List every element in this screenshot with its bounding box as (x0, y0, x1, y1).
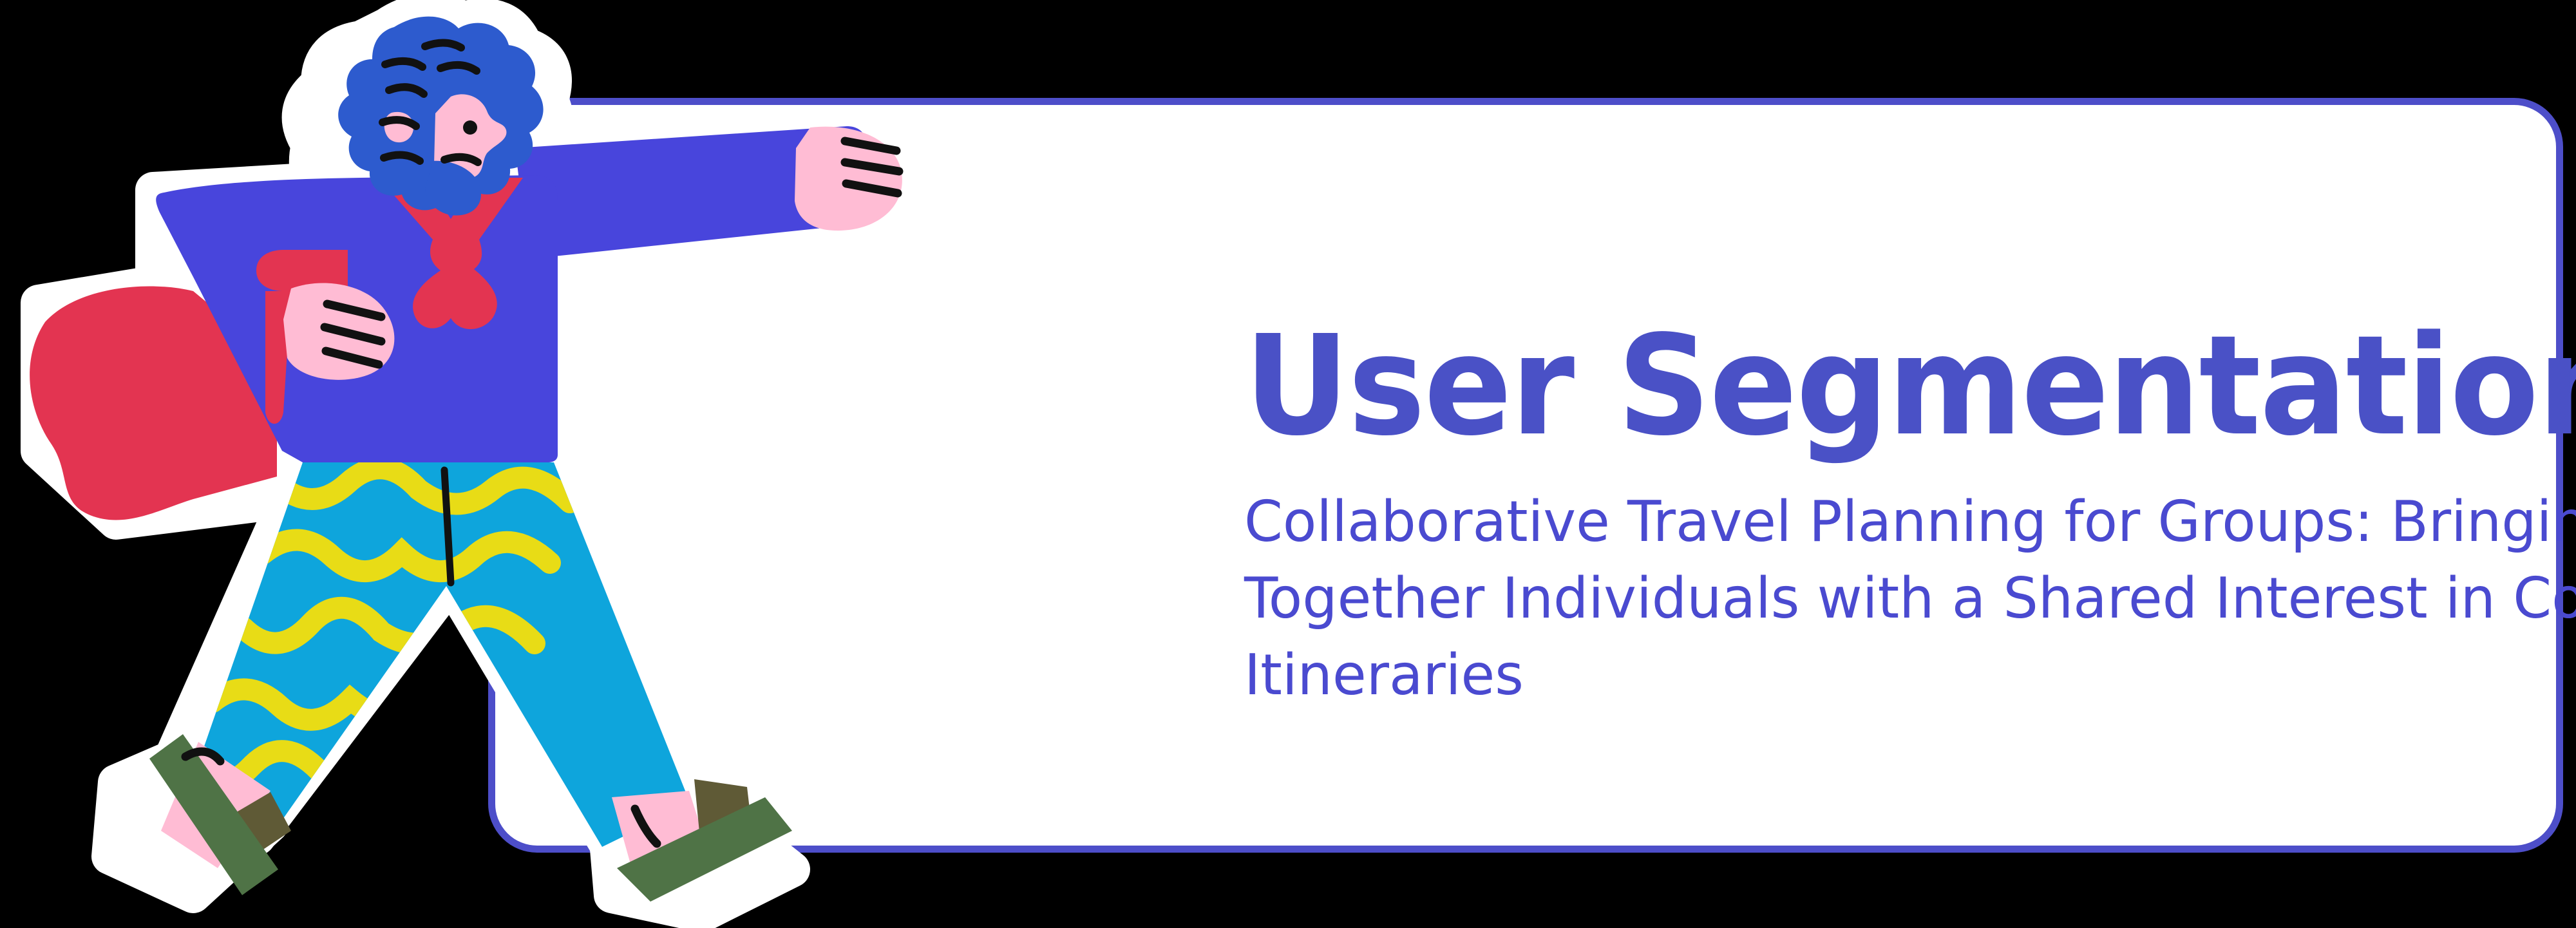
pants-seam (444, 470, 451, 583)
bag (30, 286, 277, 520)
card-text-block: User Segmentation Collaborative Travel P… (1244, 317, 2576, 714)
left-shoe-lace (185, 752, 220, 761)
header-card: User Segmentation Collaborative Travel P… (488, 98, 2563, 853)
cheek (384, 112, 413, 142)
poster-canvas: User Segmentation Collaborative Travel P… (0, 0, 2576, 928)
beard (425, 161, 481, 216)
eye (463, 120, 477, 135)
bag-strap (256, 250, 348, 424)
left-hand (283, 283, 394, 379)
face (395, 77, 497, 184)
left-shoe (149, 734, 291, 895)
page-subtitle: Collaborative Travel Planning for Groups… (1244, 455, 2576, 714)
page-title: User Segmentation (1244, 317, 2576, 455)
hair-texture (383, 43, 478, 162)
left-hand-fingers (325, 304, 381, 365)
